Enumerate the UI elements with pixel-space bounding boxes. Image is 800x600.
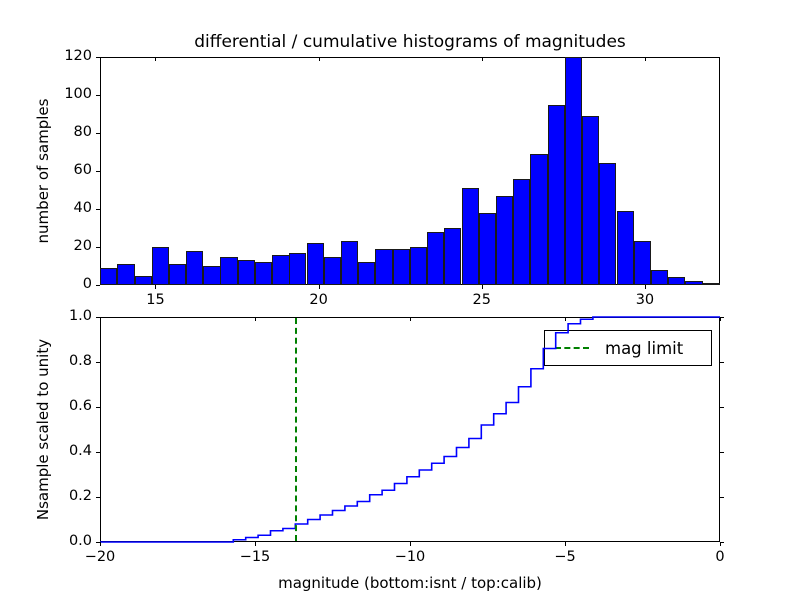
bottom-ytick-mark [96, 407, 100, 408]
bottom-ytick-mark-right [720, 362, 724, 363]
bottom-ytick-mark [96, 452, 100, 453]
bottom-xtick-mark [255, 542, 256, 546]
bottom-xtick-label: 0 [680, 549, 760, 565]
bottom-xtick-mark-upper [720, 317, 721, 321]
bottom-xtick-mark [410, 542, 411, 546]
bottom-ytick-mark-right [720, 497, 724, 498]
bottom-xtick-mark [720, 542, 721, 546]
bottom-ytick-mark-right [720, 452, 724, 453]
bottom-ytick-mark [96, 362, 100, 363]
bottom-xtick-mark [100, 542, 101, 546]
mag-limit-vline [295, 318, 297, 541]
matplotlib-figure: differential / cumulative histograms of … [0, 0, 800, 600]
bottom-ytick-mark [96, 497, 100, 498]
bottom-ytick-label: 1.0 [22, 308, 92, 324]
bottom-ytick-label: 0.8 [22, 353, 92, 369]
bottom-xtick-mark-upper [100, 317, 101, 321]
bottom-ytick-mark-right [720, 407, 724, 408]
bottom-xtick-label: −5 [525, 549, 605, 565]
bottom-ytick-label: 0.0 [22, 533, 92, 549]
bottom-ytick-label: 0.2 [22, 488, 92, 504]
bottom-xtick-label: −10 [370, 549, 450, 565]
bottom-xtick-label: −15 [215, 549, 295, 565]
cumulative-curve [0, 0, 800, 600]
bottom-xtick-label: −20 [60, 549, 140, 565]
bottom-ytick-label: 0.6 [22, 398, 92, 414]
bottom-xtick-mark [565, 542, 566, 546]
bottom-xtick-mark-upper [410, 317, 411, 321]
bottom-ytick-label: 0.4 [22, 443, 92, 459]
bottom-xtick-mark-upper [255, 317, 256, 321]
cumulative-step-line [100, 317, 720, 542]
bottom-xtick-mark-upper [565, 317, 566, 321]
